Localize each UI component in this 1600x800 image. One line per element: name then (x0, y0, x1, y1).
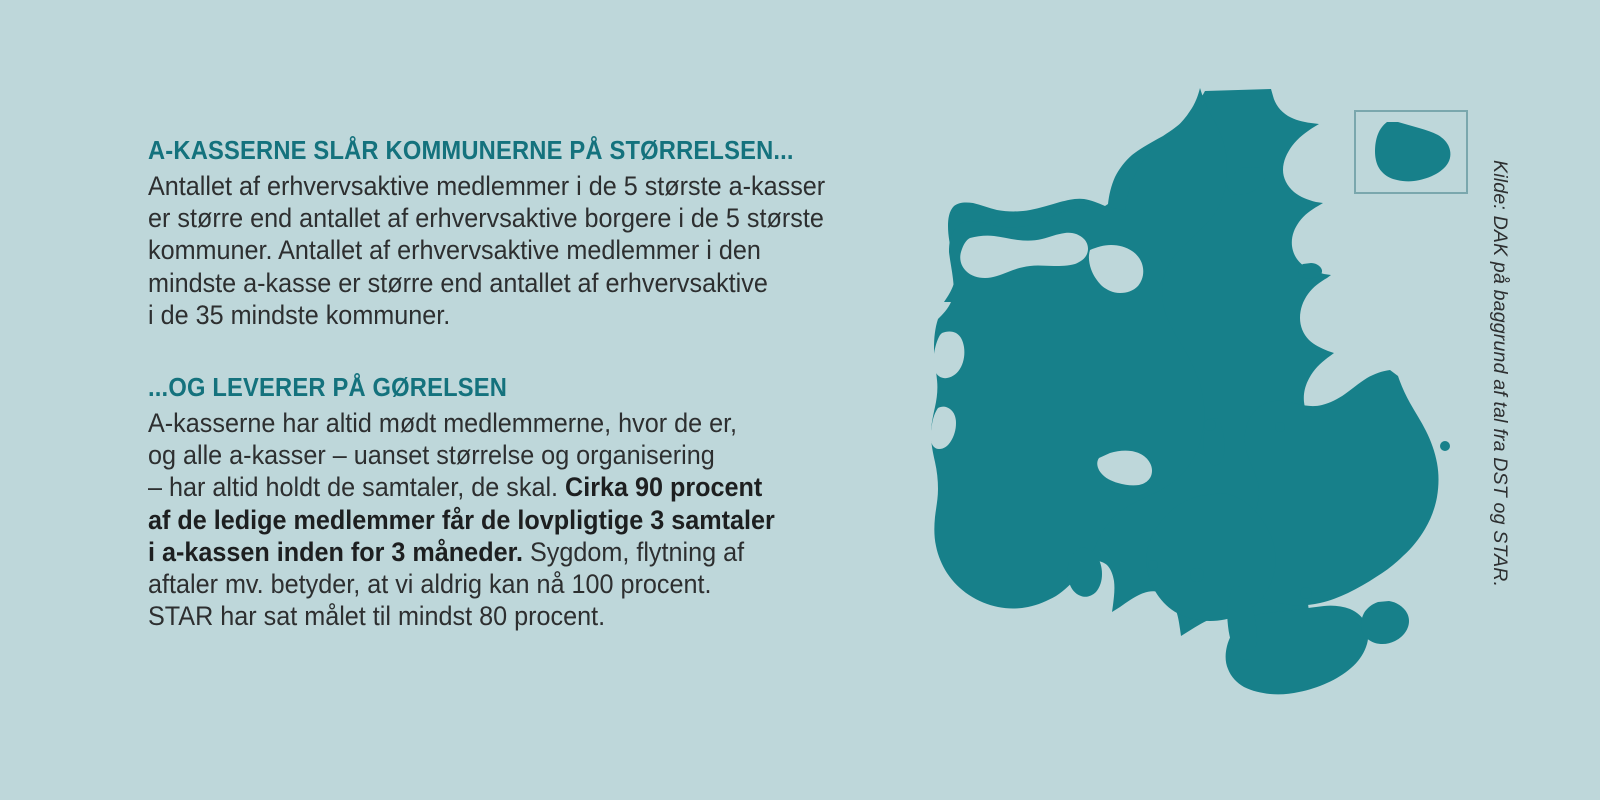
section-2-line-6: aftaler mv. betyder, at vi aldrig kan nå… (148, 569, 711, 599)
text-column: A-KASSERNE SLÅR KOMMUNERNE PÅ STØRRELSEN… (148, 136, 908, 632)
section-1-body: Antallet af erhvervsaktive medlemmer i d… (148, 170, 908, 331)
section-2-heading: ...OG LEVERER PÅ GØRELSEN (148, 373, 855, 403)
section-2-line-4-bold: af de ledige medlemmer får de lovpligtig… (148, 505, 775, 535)
source-note: Kilde: DAK på baggrund af tal fra DST og… (1483, 160, 1517, 620)
section-size-comparison: A-KASSERNE SLÅR KOMMUNERNE PÅ STØRRELSEN… (148, 136, 908, 331)
section-1-heading: A-KASSERNE SLÅR KOMMUNERNE PÅ STØRRELSEN… (148, 136, 855, 166)
section-2-line-3-bold: Cirka 90 procent (565, 472, 762, 502)
islet-1 (1440, 441, 1450, 451)
infographic-page: { "page": { "background_color": "#bed7da… (0, 0, 1600, 800)
anholt-island (1298, 263, 1322, 278)
section-2-line-5-plain: Sygdom, flytning af (523, 537, 744, 567)
islet-4 (1300, 587, 1312, 599)
bornholm-island (1375, 122, 1450, 181)
moen-island (1361, 601, 1409, 644)
bornholm-inset (1355, 111, 1467, 193)
denmark-map-figure (900, 78, 1470, 703)
section-1-line-2: er større end antallet af erhvervsaktive… (148, 203, 824, 233)
section-1-line-3: kommuner. Antallet af erhvervsaktive med… (148, 235, 761, 265)
denmark-map-svg (900, 78, 1470, 703)
section-1-line-5: i de 35 mindste kommuner. (148, 300, 450, 330)
section-2-line-1: A-kasserne har altid mødt medlemmerne, h… (148, 408, 737, 438)
section-1-line-4: mindste a-kasse er større end antallet a… (148, 268, 768, 298)
section-delivery: ...OG LEVERER PÅ GØRELSEN A-kasserne har… (148, 373, 908, 632)
islet-5 (1204, 419, 1216, 431)
section-1-line-1: Antallet af erhvervsaktive medlemmer i d… (148, 171, 825, 201)
islet-2 (1190, 568, 1204, 582)
section-2-line-2: og alle a-kasser – uanset størrelse og o… (148, 440, 715, 470)
section-2-line-5-bold: i a-kassen inden for 3 måneder. (148, 537, 523, 567)
section-2-body: A-kasserne har altid mødt medlemmerne, h… (148, 407, 908, 632)
section-2-line-3-plain: – har altid holdt de samtaler, de skal. (148, 472, 565, 502)
islet-6 (1275, 422, 1285, 432)
section-2-line-7: STAR har sat målet til mindst 80 procent… (148, 601, 605, 631)
islet-3 (1148, 560, 1158, 570)
